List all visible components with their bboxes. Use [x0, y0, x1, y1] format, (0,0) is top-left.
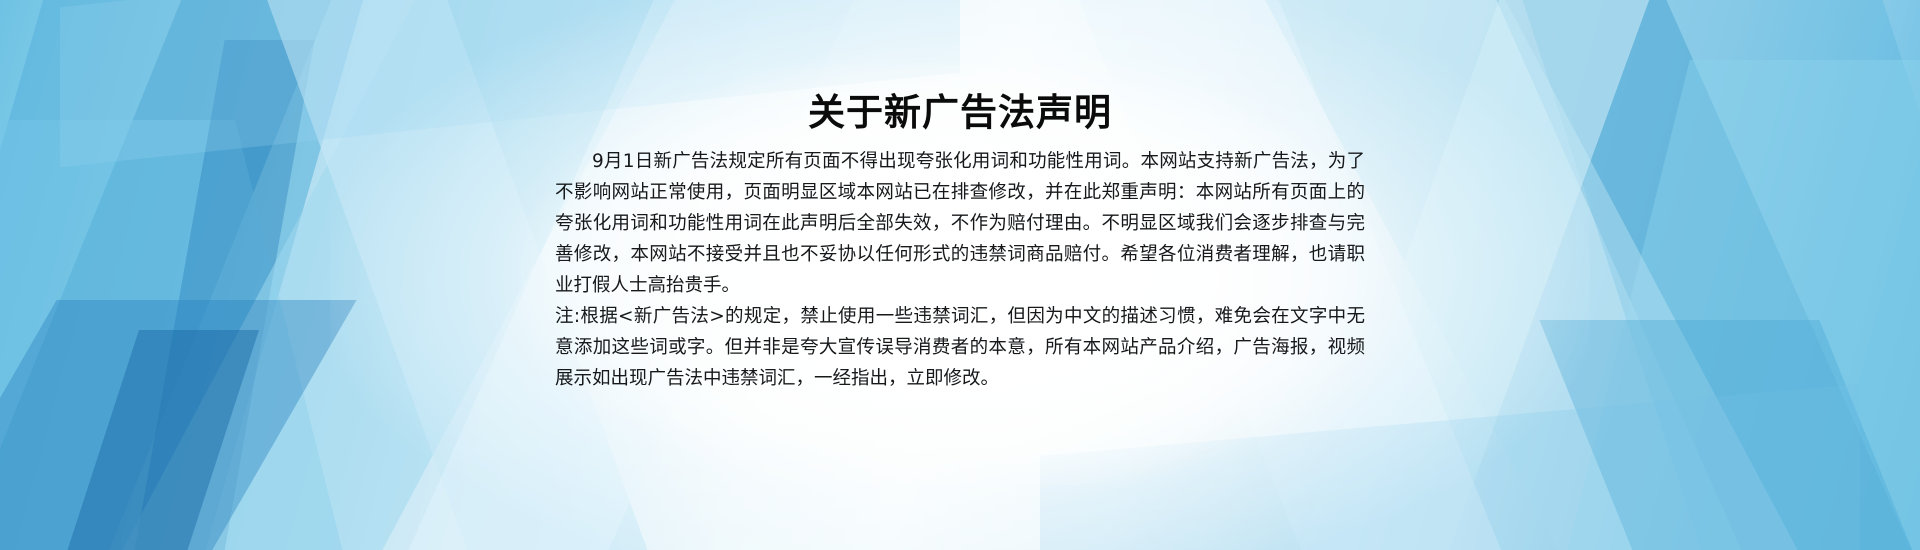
background-polygon-3	[0, 120, 365, 550]
statement-body: 9月1日新广告法规定所有页面不得出现夸张化用词和功能性用词。本网站支持新广告法，…	[555, 146, 1365, 394]
statement-paragraph-note: 注:根据<新广告法>的规定，禁止使用一些违禁词汇，但因为中文的描述习惯，难免会在…	[555, 301, 1365, 394]
statement-paragraph-main: 9月1日新广告法规定所有页面不得出现夸张化用词和功能性用词。本网站支持新广告法，…	[555, 146, 1365, 301]
statement-content: 关于新广告法声明 9月1日新广告法规定所有页面不得出现夸张化用词和功能性用词。本…	[555, 0, 1365, 550]
page-title: 关于新广告法声明	[555, 82, 1365, 136]
background-polygon-14	[1539, 320, 1920, 550]
background-polygon-11	[1550, 60, 1920, 550]
background-polygon-2	[0, 0, 364, 550]
background-polygon-8	[61, 330, 259, 550]
background-polygon-4	[115, 40, 314, 550]
advertising-law-statement-banner: 关于新广告法声明 9月1日新广告法规定所有页面不得出现夸张化用词和功能性用词。本…	[0, 0, 1920, 550]
background-polygon-1	[0, 0, 380, 550]
background-polygon-7	[0, 300, 357, 550]
